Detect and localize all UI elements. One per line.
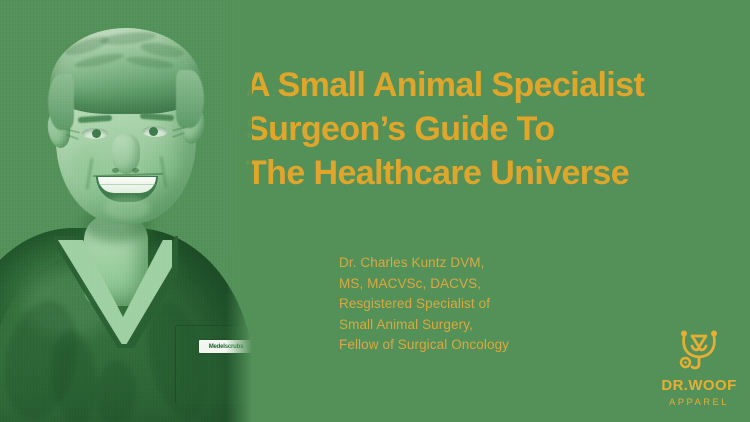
- speaker-byline: Dr. Charles Kuntz DVM, MS, MACVSc, DACVS…: [339, 253, 669, 356]
- eye-right: [142, 126, 168, 137]
- hair-side-right: [176, 70, 204, 128]
- brand-wordmark: DR.WOOF: [661, 378, 736, 393]
- slide-title-line-1: A Small Animal Specialist: [246, 63, 746, 107]
- slide-title: A Small Animal Specialist Surgeon’s Guid…: [246, 63, 746, 195]
- byline-line-4: Small Animal Surgery,: [339, 315, 669, 336]
- teeth: [98, 177, 156, 193]
- byline-line-2: MS, MACVSc, DACVS,: [339, 274, 669, 295]
- eye-left: [82, 128, 108, 139]
- byline-line-1: Dr. Charles Kuntz DVM,: [339, 253, 669, 274]
- byline-line-5: Fellow of Surgical Oncology: [339, 335, 669, 356]
- brand-tagline: APPAREL: [669, 398, 729, 408]
- portrait-photo: Medelscrubs: [0, 0, 252, 422]
- presentation-slide: Medelscrubs: [0, 0, 750, 422]
- portrait-edge-fade: [226, 0, 252, 422]
- slide-title-line-2: Surgeon’s Guide To: [246, 107, 746, 151]
- slide-title-line-3: The Healthcare Universe: [246, 151, 746, 195]
- nostril-left: [112, 168, 119, 173]
- chin: [104, 196, 150, 220]
- byline-line-3: Resgistered Specialist of: [339, 294, 669, 315]
- iris-left: [92, 129, 101, 138]
- hair-side-left: [48, 74, 74, 130]
- iris-right: [149, 127, 158, 136]
- person-figure: Medelscrubs: [0, 0, 252, 422]
- stethoscope-dog-face-icon: [672, 327, 726, 373]
- scrubs-brand-patch-prefix: Medel: [209, 344, 225, 350]
- brand-logo: DR.WOOF APPAREL: [653, 327, 745, 408]
- nostril-right: [132, 168, 139, 173]
